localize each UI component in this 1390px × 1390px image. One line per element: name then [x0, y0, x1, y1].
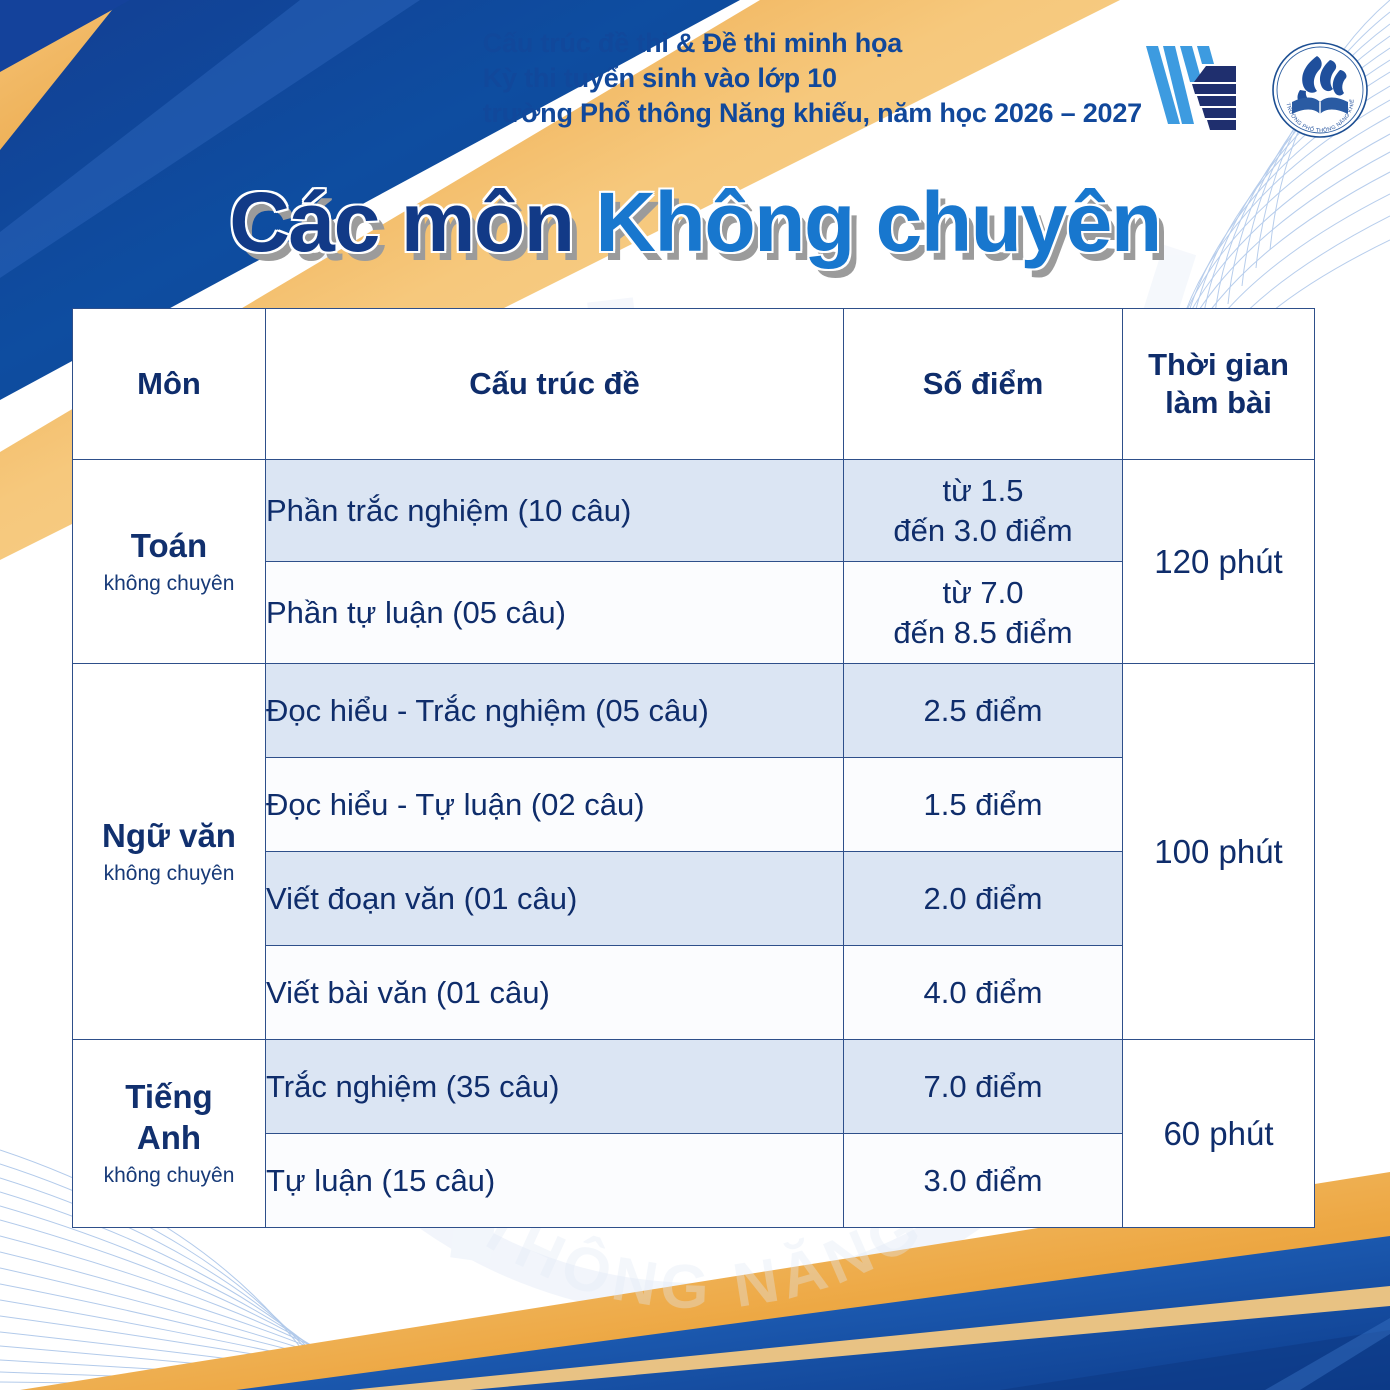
column-header-mon: Môn — [73, 309, 266, 460]
page-title-text: Các môn Không chuyên — [229, 168, 1160, 276]
subject-name-line2: Anh — [73, 1117, 265, 1158]
score-line-1: từ 7.0 — [844, 573, 1122, 613]
subject-cell-tienganh: Tiếng Anh không chuyên — [73, 1040, 266, 1228]
vnu-hcm-logo — [1144, 44, 1250, 132]
table-row: Tiếng Anh không chuyên Trắc nghiệm (35 c… — [73, 1040, 1315, 1134]
time-cell-toan: 120 phút — [1123, 460, 1315, 664]
page-title-part1: Các môn — [229, 175, 595, 269]
page-title-part2: Không chuyên — [595, 175, 1160, 269]
column-header-sodiem: Số điểm — [844, 309, 1123, 460]
vnu-logo-bars — [1146, 46, 1236, 130]
score-cell: 2.5 điểm — [844, 664, 1123, 758]
table-row: Toán không chuyên Phần trắc nghiệm (10 c… — [73, 460, 1315, 562]
exam-structure-table-wrap: Môn Cấu trúc đề Số điểm Thời gian làm bà… — [72, 308, 1314, 1228]
subject-name: Toán — [73, 525, 265, 566]
subject-subtitle: không chuyên — [73, 569, 265, 599]
subject-subtitle: không chuyên — [73, 859, 265, 889]
score-cell: 2.0 điểm — [844, 852, 1123, 946]
score-cell: 4.0 điểm — [844, 946, 1123, 1040]
subject-cell-toan: Toán không chuyên — [73, 460, 266, 664]
column-header-cautrucde: Cấu trúc đề — [266, 309, 844, 460]
table-header-row: Môn Cấu trúc đề Số điểm Thời gian làm bà… — [73, 309, 1315, 460]
band-navy-br — [236, 1236, 1390, 1390]
structure-cell: Phần trắc nghiệm (10 câu) — [266, 460, 844, 562]
time-cell-nguvan: 100 phút — [1123, 664, 1315, 1040]
time-cell-tienganh: 60 phút — [1123, 1040, 1315, 1228]
score-cell: từ 7.0 đến 8.5 điểm — [844, 562, 1123, 664]
structure-cell: Phần tự luận (05 câu) — [266, 562, 844, 664]
structure-cell: Viết bài văn (01 câu) — [266, 946, 844, 1040]
header-line-2: Kỳ thi tuyển sinh vào lớp 10 — [483, 61, 1142, 96]
band-navy-dark-br — [1000, 1330, 1390, 1390]
header-line-1: Cấu trúc đề thi & Đề thi minh họa — [483, 26, 1142, 61]
score-cell: 3.0 điểm — [844, 1134, 1123, 1228]
score-line-2: đến 3.0 điểm — [844, 511, 1122, 551]
structure-cell: Đọc hiểu - Trắc nghiệm (05 câu) — [266, 664, 844, 758]
structure-cell: Tự luận (15 câu) — [266, 1134, 844, 1228]
structure-cell: Đọc hiểu - Tự luận (02 câu) — [266, 758, 844, 852]
score-line-2: đến 8.5 điểm — [844, 613, 1122, 653]
score-line-1: từ 1.5 — [844, 471, 1122, 511]
score-cell: 7.0 điểm — [844, 1040, 1123, 1134]
subject-cell-nguvan: Ngữ văn không chuyên — [73, 664, 266, 1040]
poster-canvas: PHỔ THÔNG NĂNG KHIẾU, ĐHQG-HCM Cấu trúc … — [0, 0, 1390, 1390]
subject-name: Ngữ văn — [73, 815, 265, 856]
score-cell: từ 1.5 đến 3.0 điểm — [844, 460, 1123, 562]
exam-structure-table: Môn Cấu trúc đề Số điểm Thời gian làm bà… — [72, 308, 1315, 1228]
structure-cell: Viết đoạn văn (01 câu) — [266, 852, 844, 946]
subject-name-line1: Tiếng — [73, 1076, 265, 1117]
table-row: Ngữ văn không chuyên Đọc hiểu - Trắc ngh… — [73, 664, 1315, 758]
band-gold-thin-br — [350, 1286, 1390, 1390]
phothong-nangkhieu-seal: TRƯỜNG PHỔ THÔNG NĂNG KHIẾU, ĐHQG-HCM — [1270, 40, 1370, 140]
score-cell: 1.5 điểm — [844, 758, 1123, 852]
poster-header: Cấu trúc đề thi & Đề thi minh họa Kỳ thi… — [0, 22, 1390, 152]
column-header-thoigian: Thời gian làm bài — [1123, 309, 1315, 460]
header-title-block: Cấu trúc đề thi & Đề thi minh họa Kỳ thi… — [483, 26, 1142, 131]
structure-cell: Trắc nghiệm (35 câu) — [266, 1040, 844, 1134]
page-title: Các môn Không chuyên — [0, 168, 1390, 284]
subject-subtitle: không chuyên — [73, 1161, 265, 1191]
header-line-3: trường Phổ thông Năng khiếu, năm học 202… — [483, 96, 1142, 131]
